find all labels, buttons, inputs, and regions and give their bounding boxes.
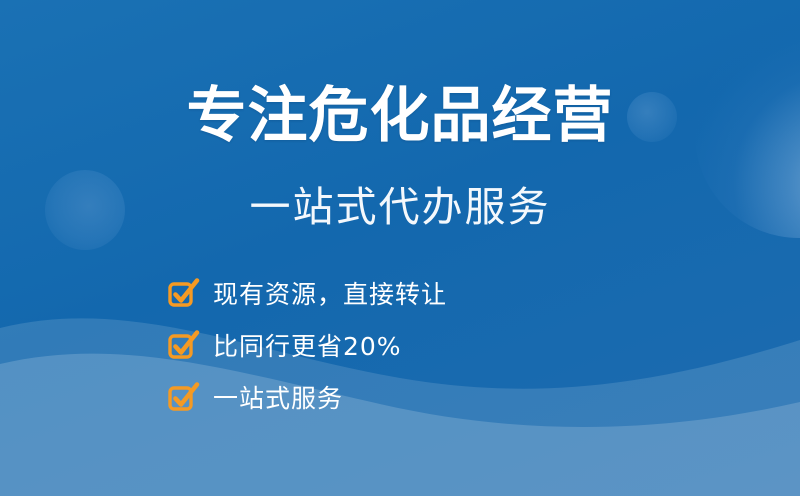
checkbox-checked-icon (170, 334, 196, 360)
feature-label: 一站式服务 (213, 384, 343, 414)
feature-item: 现有资源，直接转让 (170, 274, 630, 315)
subheadline-text: 一站式代办服务 (0, 183, 800, 231)
banner-content: 专注危化品经营 一站式代办服务 现有资源，直接转让 (0, 0, 800, 496)
feature-label: 比同行更省20% (213, 332, 402, 362)
promo-banner: 专注危化品经营 一站式代办服务 现有资源，直接转让 (0, 0, 800, 496)
feature-list: 现有资源，直接转让 比同行更省20% 一站式 (170, 274, 630, 419)
checkbox-checked-icon (170, 386, 196, 412)
headline-title: 专注危化品经营 (0, 83, 800, 149)
feature-item: 比同行更省20% (170, 326, 630, 367)
feature-label: 现有资源，直接转让 (213, 280, 447, 310)
checkbox-checked-icon (170, 282, 196, 308)
feature-item: 一站式服务 (170, 378, 630, 419)
